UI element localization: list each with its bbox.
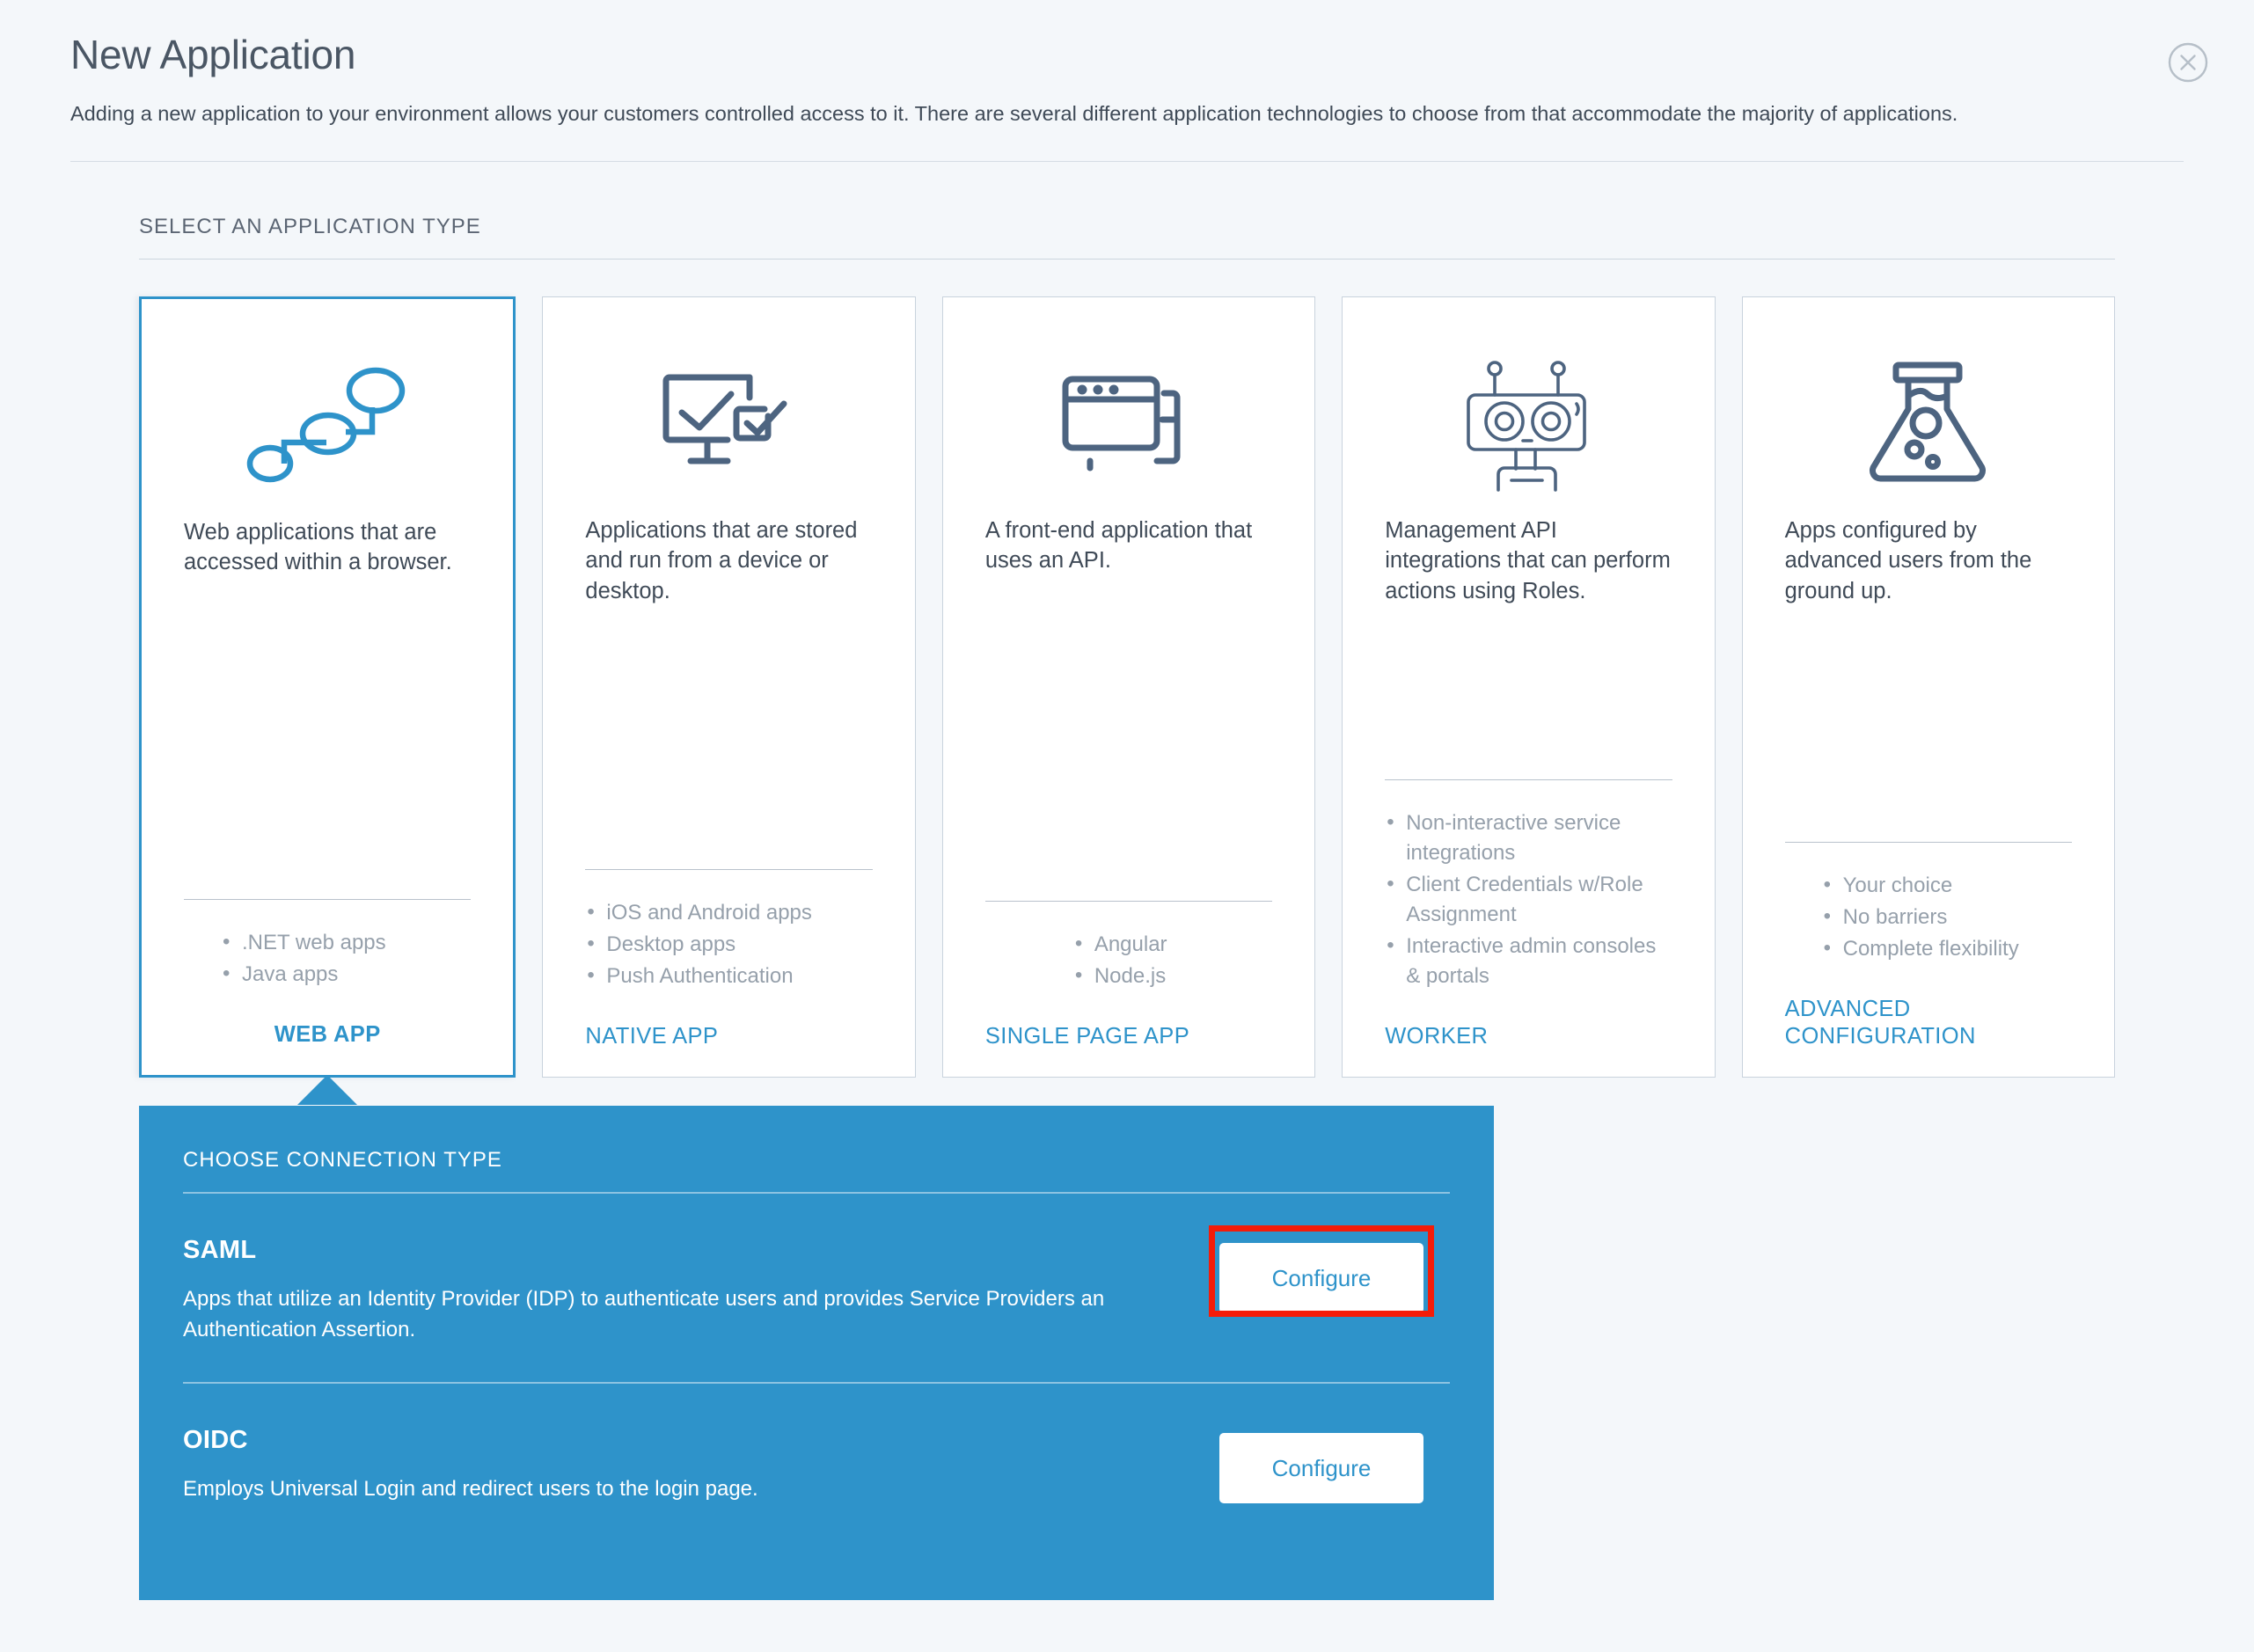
list-item: Client Credentials w/Role Assignment: [1385, 870, 1672, 930]
app-type-card-web-app[interactable]: Web applications that are accessed withi…: [139, 296, 516, 1078]
card-bullets: iOS and Android apps Desktop apps Push A…: [585, 898, 872, 993]
new-application-dialog: New Application Adding a new application…: [0, 0, 2254, 1652]
list-item: .NET web apps: [221, 928, 471, 958]
card-bullets: Your choice No barriers Complete flexibi…: [1822, 871, 2072, 966]
list-item: Desktop apps: [585, 930, 872, 960]
page-subtitle: Adding a new application to your environ…: [70, 99, 2184, 130]
application-type-cards: Web applications that are accessed withi…: [139, 296, 2115, 1078]
flask-icon: [1785, 333, 2072, 515]
card-cta-label[interactable]: WORKER: [1385, 1023, 1672, 1050]
app-type-card-native-app[interactable]: Applications that are stored and run fro…: [542, 296, 915, 1078]
app-type-card-advanced-configuration[interactable]: Apps configured by advanced users from t…: [1742, 296, 2115, 1078]
list-item: Interactive admin consoles & portals: [1385, 932, 1672, 991]
configure-button-wrap-saml: Configure: [1219, 1236, 1450, 1320]
connection-name: SAML: [183, 1236, 1184, 1265]
close-circle-icon[interactable]: [2168, 42, 2208, 83]
card-bullets: .NET web apps Java apps: [221, 928, 471, 991]
connection-panel-title: CHOOSE CONNECTION TYPE: [183, 1137, 1450, 1192]
connection-row-oidc: OIDC Employs Universal Login and redirec…: [183, 1384, 1450, 1547]
selected-card-caret: [297, 1075, 357, 1105]
application-type-section: SELECT AN APPLICATION TYPE: [139, 215, 2115, 259]
app-type-card-single-page-app[interactable]: A front-end application that uses an API…: [942, 296, 1315, 1078]
list-item: Your choice: [1822, 871, 2072, 901]
card-description: Apps configured by advanced users from t…: [1785, 515, 2072, 697]
card-divider: [1385, 779, 1672, 780]
choose-connection-type-panel: CHOOSE CONNECTION TYPE SAML Apps that ut…: [139, 1106, 1494, 1600]
connection-description: Employs Universal Login and redirect use…: [183, 1474, 1142, 1505]
list-item: iOS and Android apps: [585, 898, 872, 928]
card-divider: [1785, 842, 2072, 843]
connection-description: Apps that utilize an Identity Provider (…: [183, 1284, 1142, 1345]
card-cta-label[interactable]: WEB APP: [184, 1021, 471, 1049]
card-description: A front-end application that uses an API…: [985, 515, 1272, 697]
card-cta-label[interactable]: SINGLE PAGE APP: [985, 1023, 1272, 1050]
section-label: SELECT AN APPLICATION TYPE: [139, 215, 2115, 259]
connection-text: SAML Apps that utilize an Identity Provi…: [183, 1236, 1219, 1345]
list-item: Node.js: [1073, 961, 1272, 991]
connected-nodes-icon: [184, 334, 471, 517]
page-title: New Application: [70, 30, 2184, 81]
configure-button-wrap-oidc: Configure: [1219, 1426, 1450, 1510]
card-bullets: Angular Node.js: [1073, 930, 1272, 993]
connection-text: OIDC Employs Universal Login and redirec…: [183, 1426, 1219, 1505]
card-divider: [585, 869, 872, 870]
list-item: Complete flexibility: [1822, 934, 2072, 964]
card-cta-label[interactable]: ADVANCED CONFIGURATION: [1785, 996, 2072, 1050]
connection-name: OIDC: [183, 1426, 1184, 1455]
configure-button-oidc[interactable]: Configure: [1219, 1433, 1423, 1503]
dialog-header: New Application Adding a new application…: [0, 0, 2254, 129]
list-item: No barriers: [1822, 903, 2072, 932]
browser-windows-icon: [985, 333, 1272, 515]
connection-row-saml: SAML Apps that utilize an Identity Provi…: [183, 1194, 1450, 1382]
section-divider: [139, 259, 2115, 259]
header-divider: [70, 161, 2184, 162]
list-item: Non-interactive service integrations: [1385, 808, 1672, 868]
card-bullets: Non-interactive service integrations Cli…: [1385, 808, 1672, 993]
desktop-and-device-check-icon: [585, 333, 872, 515]
configure-button-saml[interactable]: Configure: [1219, 1243, 1423, 1313]
app-type-card-worker[interactable]: Management API integrations that can per…: [1342, 296, 1715, 1078]
card-description: Web applications that are accessed withi…: [184, 517, 471, 698]
card-cta-label[interactable]: NATIVE APP: [585, 1023, 872, 1050]
card-description: Applications that are stored and run fro…: [585, 515, 872, 697]
list-item: Angular: [1073, 930, 1272, 960]
robot-icon: [1385, 333, 1672, 515]
card-description: Management API integrations that can per…: [1385, 515, 1672, 697]
card-divider: [985, 901, 1272, 902]
card-divider: [184, 899, 471, 900]
list-item: Java apps: [221, 960, 471, 990]
list-item: Push Authentication: [585, 961, 872, 991]
